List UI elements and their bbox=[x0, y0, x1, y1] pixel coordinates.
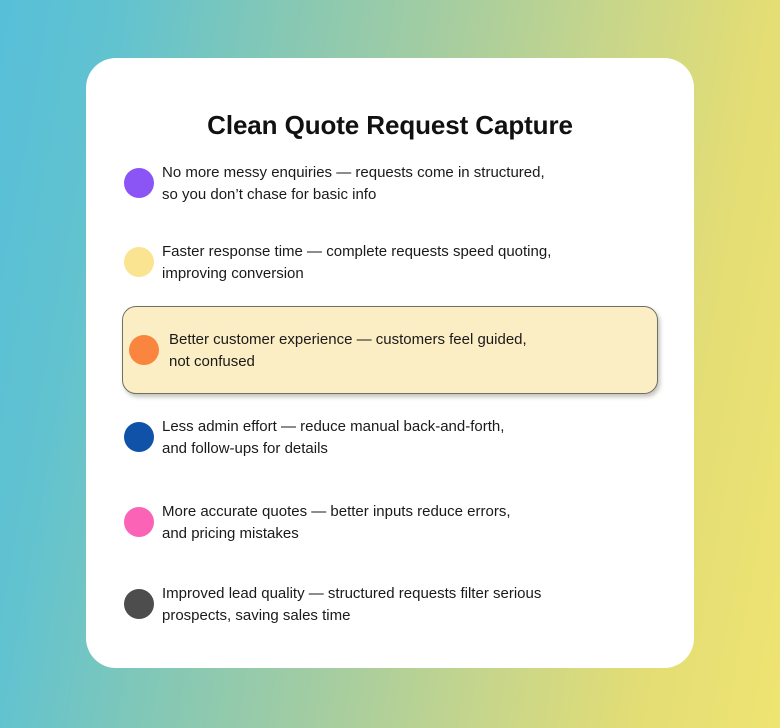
bullet-dot-pink-icon bbox=[124, 507, 154, 537]
bullet-dot-light-yellow-icon bbox=[124, 247, 154, 277]
bullet-dot-purple-icon bbox=[124, 168, 154, 198]
list-item[interactable]: Improved lead quality — structured reque… bbox=[86, 575, 694, 633]
list-item-label: Faster response time — complete requests… bbox=[162, 240, 694, 285]
list-item-label: No more messy enquiries — requests come … bbox=[162, 161, 694, 206]
benefits-list: No more messy enquiries — requests come … bbox=[86, 154, 694, 633]
list-item[interactable]: Less admin effort — reduce manual back-a… bbox=[86, 408, 694, 466]
bullet-dot-blue-icon bbox=[124, 422, 154, 452]
bullet-dot-gray-icon bbox=[124, 589, 154, 619]
list-item-highlighted[interactable]: Better customer experience — customers f… bbox=[122, 306, 658, 394]
list-item[interactable]: No more messy enquiries — requests come … bbox=[86, 154, 694, 212]
content-panel: Clean Quote Request Capture No more mess… bbox=[86, 58, 694, 668]
slide-canvas: Clean Quote Request Capture No more mess… bbox=[0, 0, 780, 728]
bullet-dot-orange-icon bbox=[129, 335, 159, 365]
list-item-label: Better customer experience — customers f… bbox=[169, 328, 657, 373]
page-title: Clean Quote Request Capture bbox=[86, 110, 694, 141]
list-item-label: Improved lead quality — structured reque… bbox=[162, 582, 694, 627]
list-item[interactable]: More accurate quotes — better inputs red… bbox=[86, 493, 694, 551]
list-item-label: More accurate quotes — better inputs red… bbox=[162, 500, 694, 545]
list-item-label: Less admin effort — reduce manual back-a… bbox=[162, 415, 694, 460]
list-item[interactable]: Faster response time — complete requests… bbox=[86, 233, 694, 291]
